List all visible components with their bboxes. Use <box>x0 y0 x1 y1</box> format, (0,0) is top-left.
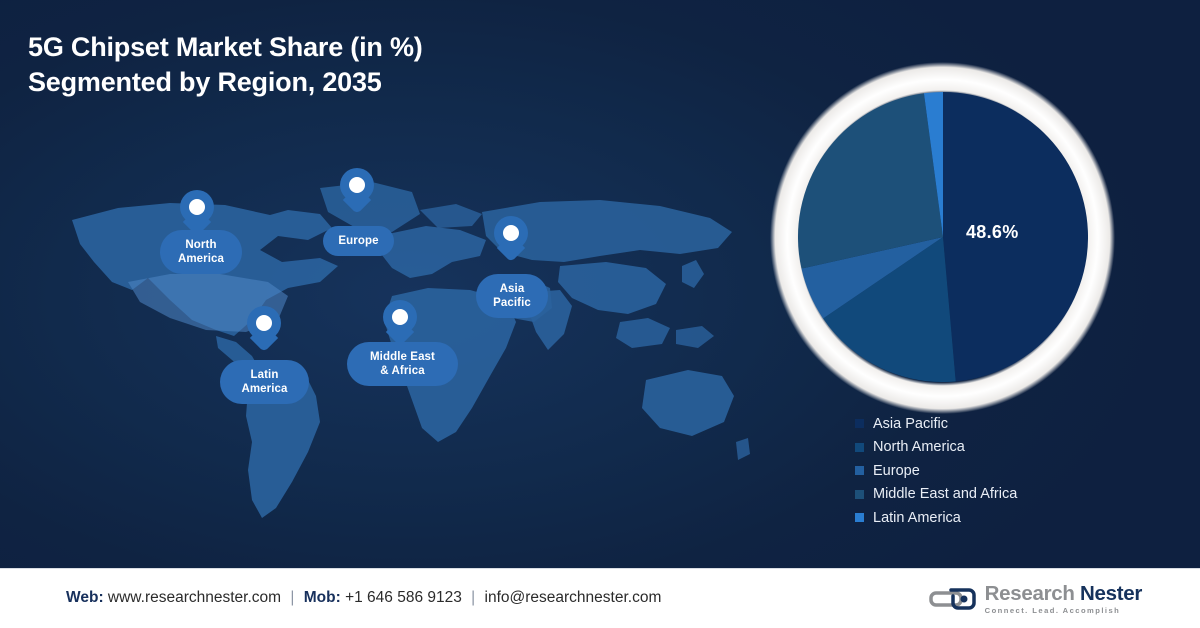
map-label-latin-america[interactable]: Latin America <box>220 360 309 404</box>
legend-item-europe[interactable]: Europe <box>855 459 1185 483</box>
chart-legend: Asia Pacific North America Europe Middle… <box>855 412 1185 530</box>
footer-mob-value: +1 646 586 9123 <box>345 589 462 606</box>
logo-tagline: Connect. Lead. Accomplish <box>985 606 1142 615</box>
footer-contact: Web: www.researchnester.com | Mob: +1 64… <box>66 589 661 607</box>
legend-swatch-icon <box>855 513 864 522</box>
legend-swatch-icon <box>855 443 864 452</box>
map-label-middle-east-africa[interactable]: Middle East & Africa <box>347 342 458 386</box>
legend-item-north-america[interactable]: North America <box>855 436 1185 460</box>
pin-dot-icon <box>189 199 205 215</box>
footer-mob-label: Mob: <box>304 589 341 606</box>
pin-dot-icon <box>349 177 365 193</box>
map-pin-europe[interactable] <box>340 168 374 212</box>
page-title: 5G Chipset Market Share (in %) Segmented… <box>28 30 668 100</box>
footer-bar: Web: www.researchnester.com | Mob: +1 64… <box>0 568 1200 628</box>
legend-label: North America <box>873 440 965 455</box>
pie-data-label-asia-pacific: 48.6% <box>966 222 1019 243</box>
logo-wordmark: Research Nester Connect. Lead. Accomplis… <box>985 583 1142 616</box>
logo-name-nester: Nester <box>1080 582 1142 605</box>
legend-swatch-icon <box>855 419 864 428</box>
legend-item-latin-america[interactable]: Latin America <box>855 506 1185 530</box>
map-pin-latin-america[interactable] <box>247 306 281 350</box>
pin-dot-icon <box>256 315 272 331</box>
logo-name-research: Research <box>985 582 1075 605</box>
map-label-europe[interactable]: Europe <box>323 226 394 256</box>
map-pin-north-america[interactable] <box>180 190 214 234</box>
footer-web-value[interactable]: www.researchnester.com <box>108 589 281 606</box>
chart-panel: 5G Chipset Market Share (in %) Segmented… <box>0 0 1200 568</box>
research-nester-logo[interactable]: Research Nester Connect. Lead. Accomplis… <box>929 583 1142 615</box>
map-label-asia-pacific[interactable]: Asia Pacific <box>476 274 548 318</box>
pin-dot-icon <box>392 309 408 325</box>
pin-dot-icon <box>503 225 519 241</box>
legend-label: Europe <box>873 464 920 479</box>
pie-chart: 48.6% <box>770 62 1115 414</box>
legend-label: Asia Pacific <box>873 417 948 432</box>
map-pin-asia-pacific[interactable] <box>494 216 528 260</box>
legend-swatch-icon <box>855 490 864 499</box>
logo-mark-icon <box>929 586 976 612</box>
footer-separator: | <box>466 589 480 606</box>
map-label-north-america[interactable]: North America <box>160 230 242 274</box>
legend-swatch-icon <box>855 466 864 475</box>
world-map: North America Europe Asia Pacific Latin … <box>20 170 750 520</box>
legend-item-middle-east-and-africa[interactable]: Middle East and Africa <box>855 483 1185 507</box>
footer-web-label: Web: <box>66 589 104 606</box>
legend-label: Middle East and Africa <box>873 487 1017 502</box>
legend-label: Latin America <box>873 511 961 526</box>
title-line-1: 5G Chipset Market Share (in %) <box>28 32 423 62</box>
infographic-poster: 5G Chipset Market Share (in %) Segmented… <box>0 0 1200 628</box>
footer-separator: | <box>285 589 299 606</box>
footer-email[interactable]: info@researchnester.com <box>485 589 662 606</box>
legend-item-asia-pacific[interactable]: Asia Pacific <box>855 412 1185 436</box>
title-line-2: Segmented by Region, 2035 <box>28 65 668 100</box>
pie-slices <box>798 92 1088 382</box>
map-pin-middle-east-africa[interactable] <box>383 300 417 344</box>
logo-name: Research Nester <box>985 583 1142 605</box>
